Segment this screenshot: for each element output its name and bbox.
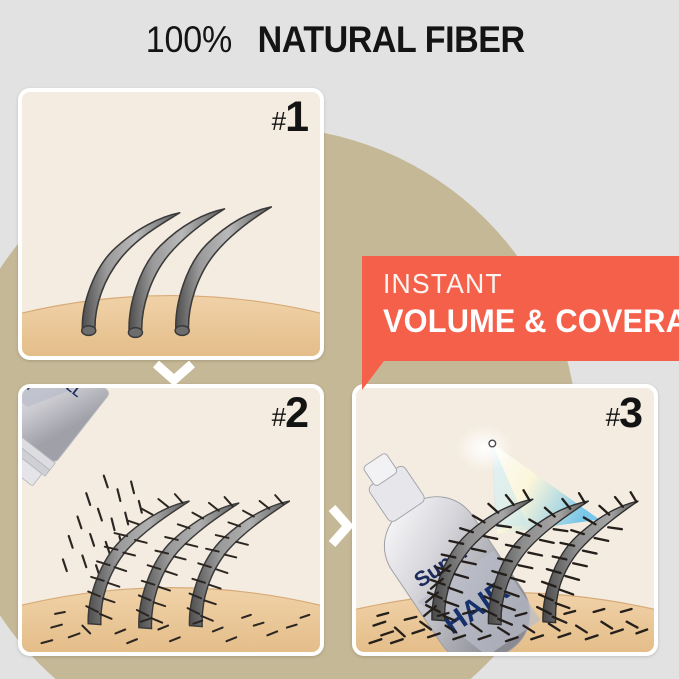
callout-banner: INSTANT VOLUME & COVERAGE: [362, 256, 679, 361]
step-digit: 1: [285, 93, 308, 141]
step-number-2: #2: [272, 392, 308, 435]
step-panel-2[interactable]: SN SUPER MILL: [18, 384, 324, 656]
nozzle-orifice: [489, 440, 496, 447]
callout-tail: [362, 361, 384, 390]
step-panel-3[interactable]: Super HAIR: [352, 384, 658, 656]
callout-line-2: VOLUME & COVERAGE: [383, 302, 679, 340]
page-title: 100% NATURAL FIBER: [0, 18, 679, 62]
step-hash-symbol: #: [606, 402, 619, 432]
chevron-right-icon: [328, 504, 352, 548]
infographic-stage: 100% NATURAL FIBER: [0, 0, 679, 679]
step-panel-1[interactable]: #1: [18, 88, 324, 360]
title-percent: 100%: [146, 18, 232, 62]
step-number-3: #3: [606, 392, 642, 435]
callout-line-1: INSTANT: [383, 268, 503, 300]
step-digit: 3: [619, 389, 642, 437]
step-hash-symbol: #: [272, 106, 285, 136]
chevron-down-icon: [152, 360, 196, 384]
title-main: NATURAL FIBER: [258, 18, 525, 62]
step-hash-symbol: #: [272, 402, 285, 432]
step-number-1: #1: [272, 96, 308, 139]
step-digit: 2: [285, 389, 308, 437]
